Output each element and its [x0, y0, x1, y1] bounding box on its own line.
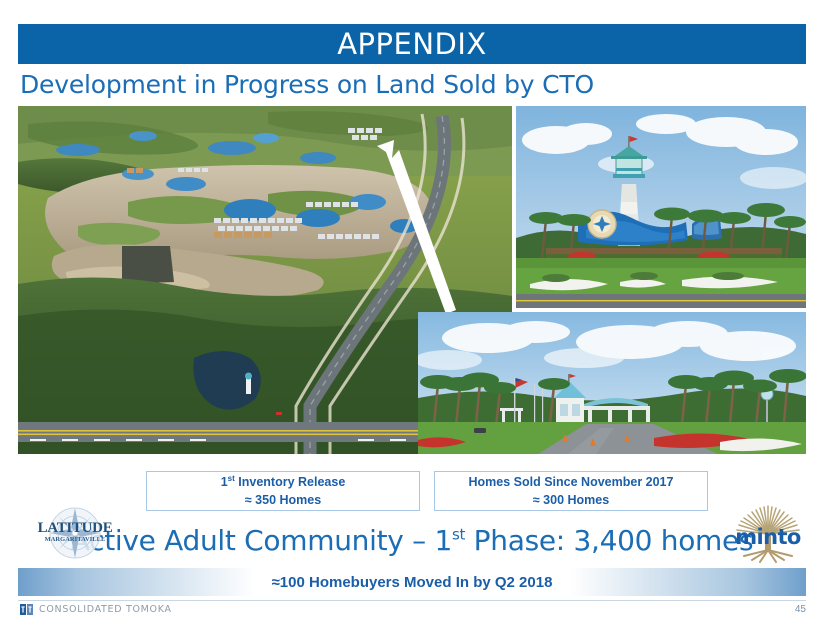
page-title: APPENDIX — [337, 27, 487, 61]
minto-wordmark: minto — [735, 525, 801, 549]
gated-entrance-illustration — [418, 312, 806, 454]
callout-line-2: ≈ 300 Homes — [533, 491, 609, 509]
entry-tower-illustration — [516, 106, 806, 308]
callout-line-1: Homes Sold Since November 2017 — [469, 473, 674, 491]
slide-title-bar: APPENDIX — [18, 24, 806, 64]
photo-gated-entrance — [418, 312, 806, 454]
footer: CONSOLIDATED TOMOKA — [20, 604, 172, 615]
margaritaville-wordmark: MARGARITAVILLE — [45, 536, 106, 543]
latitude-margaritaville-logo: LATITUDE MARGARITAVILLE — [22, 502, 128, 564]
minto-logo: minto — [722, 500, 814, 568]
latitude-wordmark: LATITUDE — [38, 520, 113, 536]
page-number: 45 — [795, 604, 806, 615]
footer-company: CONSOLIDATED TOMOKA — [39, 604, 172, 615]
callout-line-1: 1st Inventory Release — [221, 473, 346, 491]
footer-divider — [18, 600, 806, 601]
minto-logo-icon: minto — [722, 500, 814, 568]
headline-ordinal: st — [452, 526, 465, 544]
photo-entry-tower — [516, 106, 806, 308]
callout-line-2: ≈ 350 Homes — [245, 491, 321, 509]
latitude-logo-icon: LATITUDE MARGARITAVILLE — [22, 502, 128, 564]
callout-homes-sold: Homes Sold Since November 2017 ≈ 300 Hom… — [434, 471, 708, 511]
slide: APPENDIX Development in Progress on Land… — [0, 0, 824, 637]
slide-subtitle: Development in Progress on Land Sold by … — [20, 70, 594, 99]
callout-inventory-release: 1st Inventory Release ≈ 350 Homes — [146, 471, 420, 511]
banner-text: ≈100 Homebuyers Moved In by Q2 2018 — [272, 574, 553, 591]
headline-post: Phase: 3,400 homes — [465, 524, 753, 557]
homebuyers-banner: ≈100 Homebuyers Moved In by Q2 2018 — [18, 568, 806, 596]
ct-logo-icon — [20, 604, 33, 615]
